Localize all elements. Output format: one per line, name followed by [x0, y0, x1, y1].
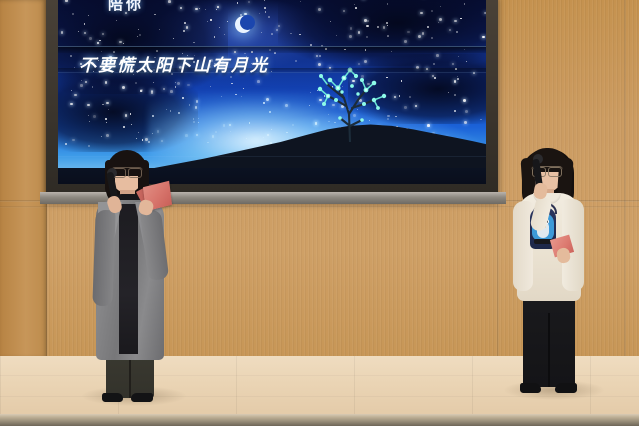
presenter-left: [78, 148, 190, 404]
wall-left-panel: [0, 0, 47, 358]
photo-scene: 陪你 不要慌太阳下山有月光: [0, 0, 639, 426]
trouser-seam: [548, 313, 550, 387]
shoe-left: [102, 393, 123, 402]
shoe-right: [555, 383, 577, 393]
presenter-right: [500, 145, 606, 403]
shoe-right: [131, 393, 153, 402]
lyric-top-text: 陪你: [108, 0, 144, 14]
coat-opening: [119, 204, 138, 354]
arm-left: [92, 210, 115, 307]
shoe-left: [520, 383, 541, 393]
led-scanline: [58, 46, 486, 47]
trouser-seam: [129, 354, 131, 398]
crescent-moon-icon: [235, 16, 252, 33]
stage-floor-edge: [0, 414, 639, 426]
lyric-main-text: 不要慌太阳下山有月光: [79, 51, 269, 76]
wall-vertical-seam: [624, 0, 626, 358]
